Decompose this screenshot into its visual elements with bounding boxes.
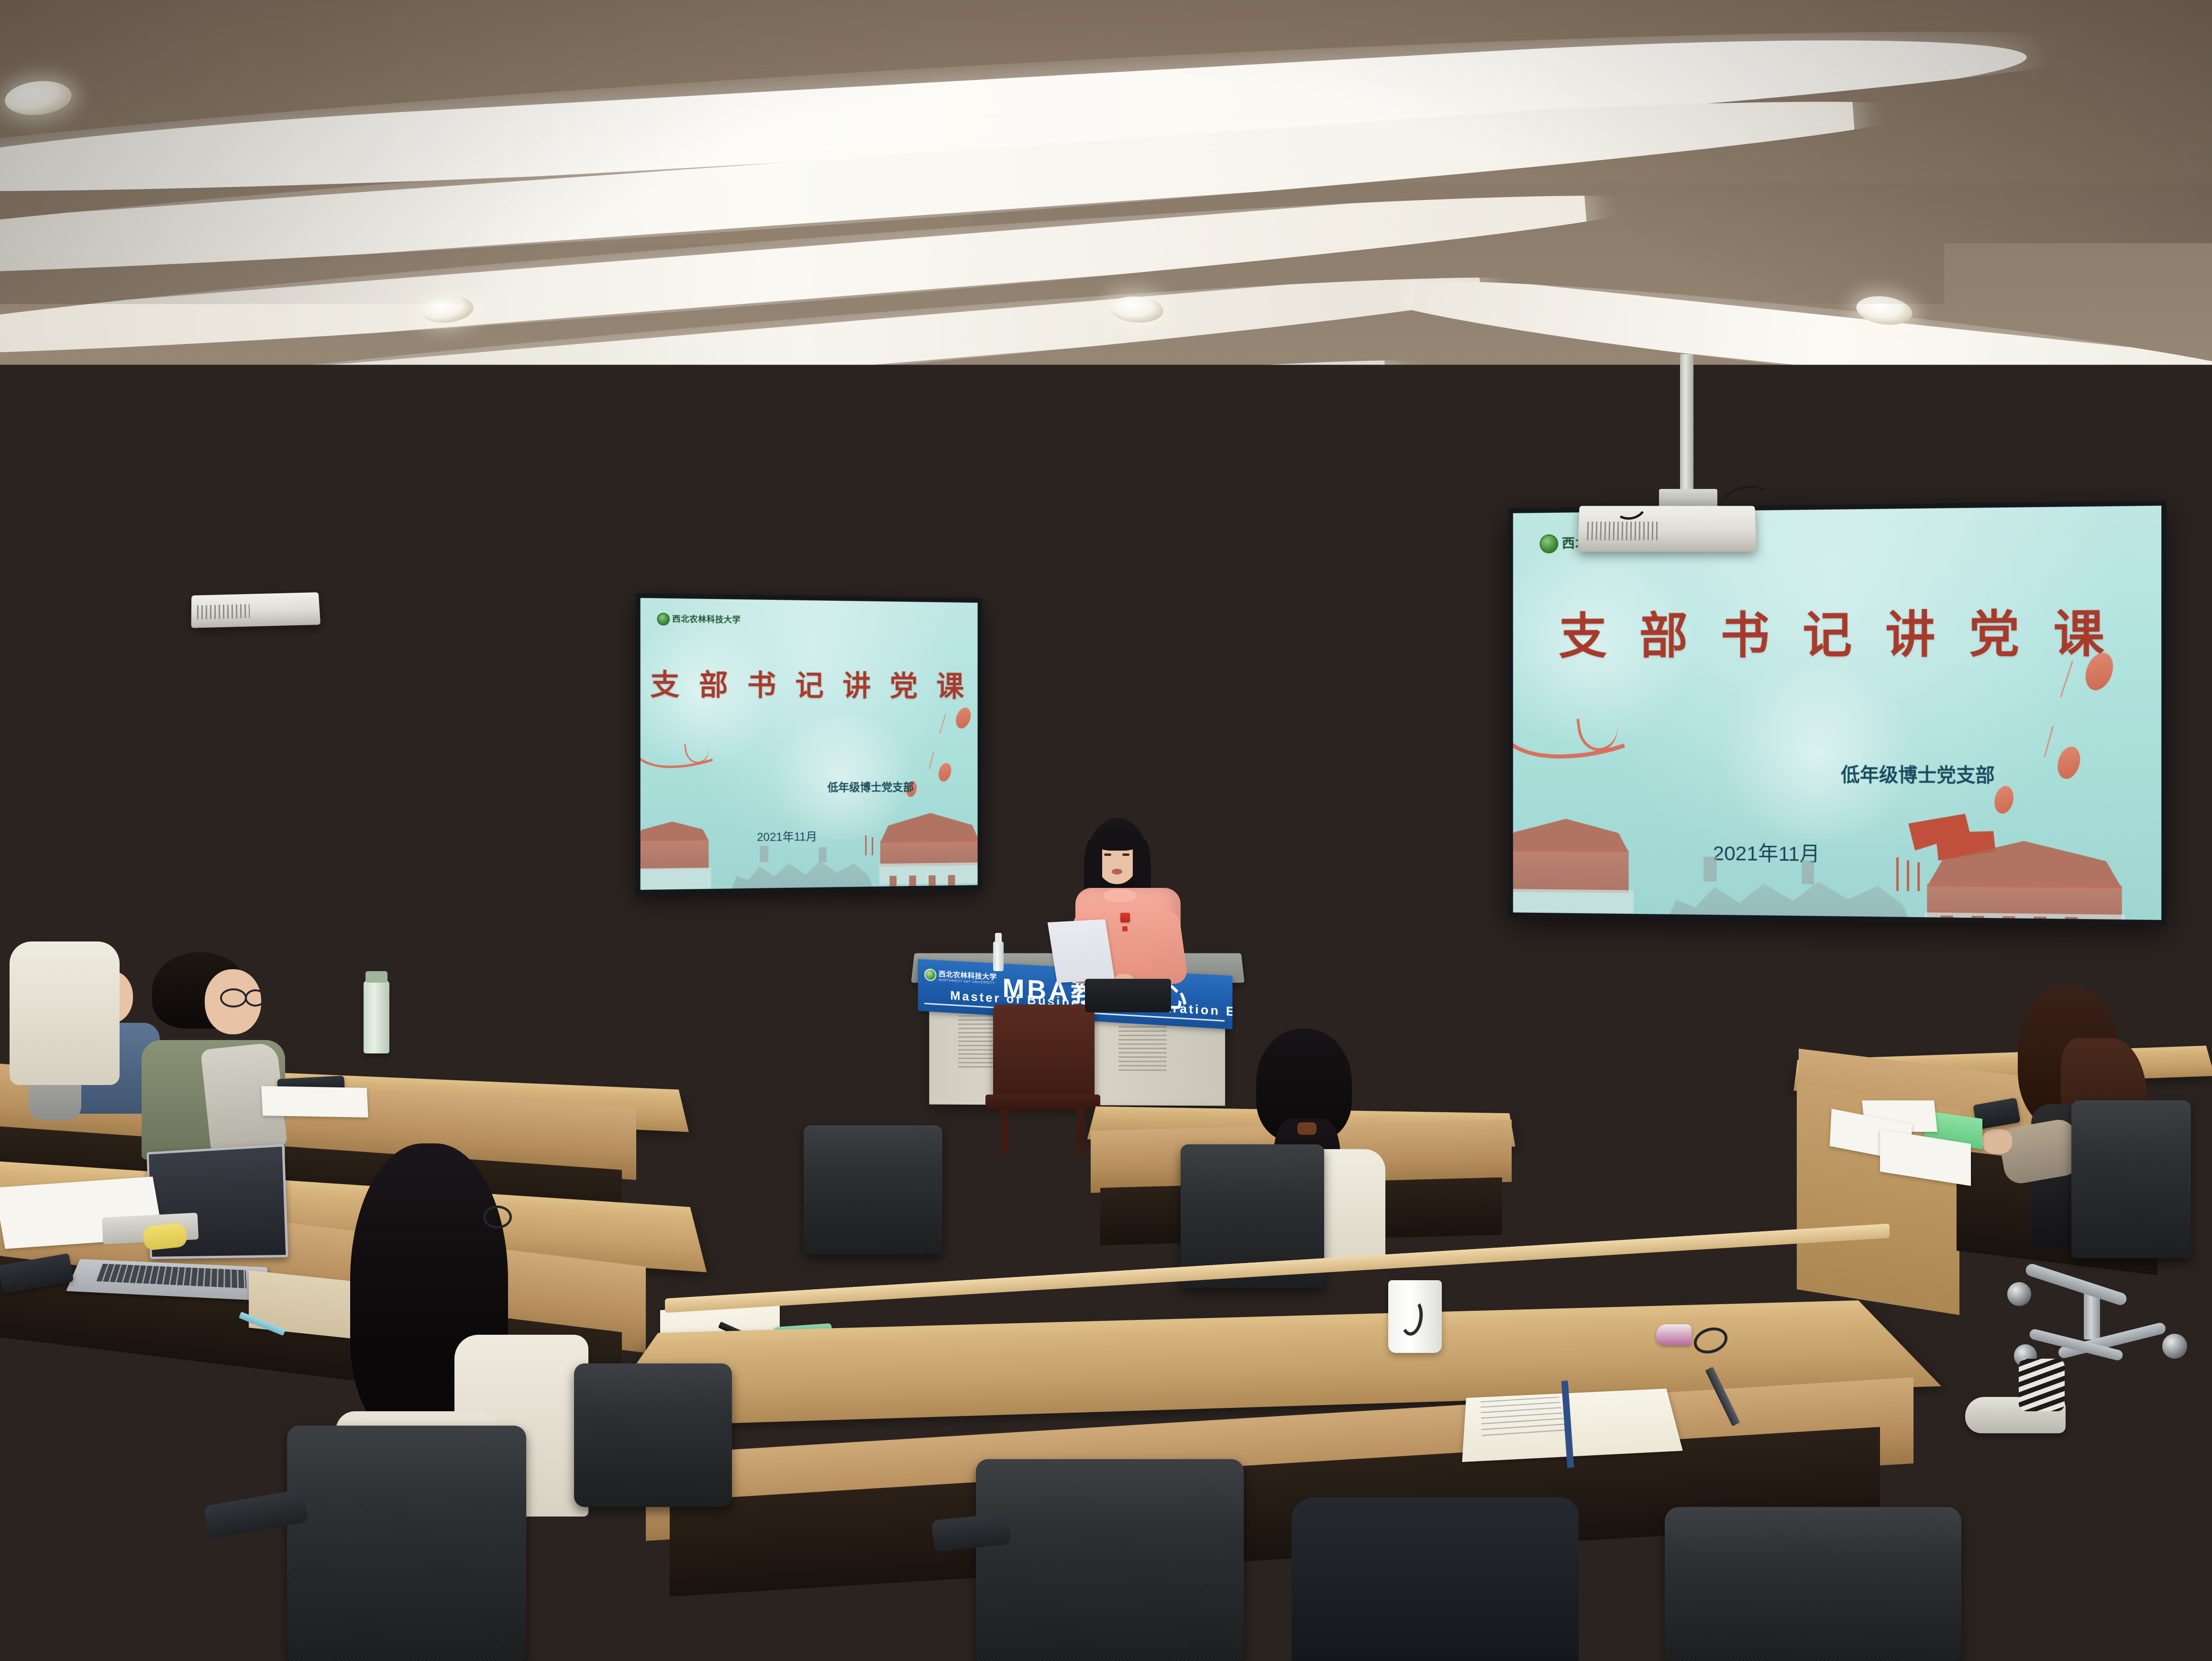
presenter <box>1058 818 1202 1019</box>
wooden-chair-leg <box>1001 1109 1008 1154</box>
tiananmen-column <box>2065 917 2078 920</box>
chair-row-center[interactable] <box>574 1363 732 1507</box>
ceiling-downlight <box>3 78 74 118</box>
slide-title: 支 部 书 记 讲 党 课 <box>641 661 978 705</box>
sanitizer-bottle <box>993 941 1004 971</box>
historic-building-body <box>641 840 709 869</box>
clock-numeral: 6 <box>104 697 108 705</box>
whiteboard-smudge <box>1068 740 1192 793</box>
tiananmen-column <box>2034 917 2046 920</box>
lantern-decoration <box>1992 784 2016 815</box>
great-wall-illustration <box>1666 862 1913 920</box>
great-wall-tower <box>1703 857 1717 882</box>
slide-date: 2021年11月 <box>757 827 817 844</box>
slide-right: 西北农林科技大学 支 部 书 记 讲 党 课 低年级博士党支部 2021年11月 <box>1513 506 2161 920</box>
great-wall-tower <box>1802 860 1814 884</box>
sneaker-keychain-icon <box>1656 1324 1692 1345</box>
laptop-keyboard[interactable] <box>97 1264 247 1288</box>
projector-mount-pole-right <box>1680 354 1693 498</box>
chair-center-row[interactable] <box>804 1125 942 1254</box>
flag-pole <box>865 835 867 855</box>
yellow-pouch <box>143 1222 188 1251</box>
slide-mist <box>762 715 922 840</box>
slide-title: 支 部 书 记 讲 党 课 <box>1513 592 2161 667</box>
clock-numeral: 3 <box>124 676 129 685</box>
chair-foreground[interactable] <box>976 1459 1244 1661</box>
slide-left: 西北农林科技大学 支 部 书 记 讲 党 课 低年级博士党支部 2021年11月 <box>641 598 978 890</box>
water-bottle <box>364 981 389 1053</box>
whiteboard-smudge <box>1254 884 1379 927</box>
projector-vent <box>1587 521 1659 540</box>
eyeglasses <box>483 1206 512 1229</box>
tiananmen-column <box>890 876 897 889</box>
presenter-mouth <box>1112 869 1122 875</box>
student-right-hand <box>1982 1129 2012 1154</box>
historic-building-base <box>1513 889 1633 920</box>
university-seal-icon <box>1540 534 1559 554</box>
bottle-cap <box>365 971 387 983</box>
slide-university-logo: 西北农林科技大学 <box>657 613 741 626</box>
great-wall-tower <box>760 846 768 862</box>
podium-university-logo: 西北农林科技大学 NORTHWEST A&F UNIVERSITY <box>924 968 997 985</box>
wall-outlet[interactable] <box>660 959 681 975</box>
tiananmen-column <box>948 875 955 888</box>
booklet-second-tier <box>261 1086 368 1118</box>
flag-pole <box>872 837 873 855</box>
presenter-eye <box>1122 853 1129 856</box>
seat-cushion <box>10 941 120 1085</box>
chair-foreground[interactable] <box>1665 1507 1961 1661</box>
tiananmen-column <box>1941 916 1953 920</box>
presenter-script-paper <box>1048 919 1115 983</box>
slide-mist <box>1708 667 1927 840</box>
chair-right-student[interactable] <box>2071 1100 2191 1258</box>
podium-vent <box>1118 1023 1167 1071</box>
wooden-chair-leg <box>1077 1109 1085 1154</box>
notebook-handwriting <box>1480 1393 1566 1436</box>
university-seal-icon <box>657 613 670 626</box>
lantern-decoration <box>2054 744 2084 782</box>
projection-screen-right: 西北农林科技大学 支 部 书 记 讲 党 课 低年级博士党支部 2021年11月 <box>1508 501 2166 925</box>
tiananmen-column <box>1971 916 1984 920</box>
clock-numeral: 9 <box>81 676 86 685</box>
chair-foreground[interactable] <box>287 1426 526 1661</box>
flag-pole <box>1917 863 1920 891</box>
tiananmen-column <box>2002 916 2015 920</box>
ceiling-downlight <box>1305 448 1353 474</box>
lantern-decoration <box>953 705 973 731</box>
great-wall-tower <box>819 847 827 863</box>
lantern-string <box>2044 726 2054 757</box>
clock-center-pin <box>104 678 108 682</box>
chair-caster <box>2007 1282 2031 1306</box>
projector-mount-pole-left <box>237 507 248 584</box>
lecture-hall-photo: 12 3 6 9 西北农林科技大学 支 部 书 记 讲 党 课 <box>0 0 2212 1661</box>
clock-numeral: 12 <box>102 654 111 663</box>
ceiling-downlight <box>636 487 681 510</box>
ceiling <box>0 0 2212 565</box>
lantern-string <box>2060 661 2073 698</box>
sanitizer-nozzle <box>995 933 1002 943</box>
striped-sock <box>2019 1359 2065 1411</box>
clock-hour-hand <box>91 679 106 691</box>
slide-subtitle: 低年级博士党支部 <box>828 778 914 795</box>
ceiling-downlight <box>114 399 164 427</box>
chair-caster <box>2162 1334 2187 1359</box>
tiananmen-column <box>929 875 936 889</box>
wooden-chair-seat <box>985 1095 1100 1111</box>
presenter-eye <box>1104 853 1111 856</box>
eyeglasses <box>220 988 247 1008</box>
historic-building-roof <box>641 821 709 842</box>
party-badge-icon <box>1122 926 1128 931</box>
projector-left <box>191 592 321 628</box>
projection-screen-left: 西北农林科技大学 支 部 书 记 讲 党 课 低年级博士党支部 2021年11月 <box>635 593 982 895</box>
historic-building-body <box>1513 850 1629 893</box>
ceiling-downlight <box>928 520 970 542</box>
lantern-decoration <box>937 762 953 783</box>
presenter-collar <box>1103 889 1137 902</box>
lantern-string <box>929 752 934 769</box>
historic-building-base <box>641 868 711 890</box>
whiteboard-smudge <box>1187 778 1340 845</box>
party-badge-icon <box>1120 913 1130 922</box>
flag-pole <box>1896 857 1899 891</box>
lantern-string <box>939 714 946 734</box>
slide-subtitle: 低年级博士党支部 <box>1841 759 1995 787</box>
ceiling-light-band <box>1186 371 1785 464</box>
chair-foreground[interactable] <box>0 1531 182 1661</box>
historic-building-roof <box>1513 819 1629 853</box>
eyeglasses <box>245 989 266 1007</box>
recording-camera <box>479 790 507 820</box>
draped-jacket <box>1292 1497 1579 1661</box>
great-wall-illustration <box>731 849 874 890</box>
slide-org-name-cn: 西北农林科技大学 <box>672 615 741 625</box>
flag-pole <box>1907 860 1909 891</box>
wall-clock: 12 3 6 9 <box>74 648 136 710</box>
ceiling-light-band <box>1411 272 2212 412</box>
tiananmen-column <box>909 875 916 889</box>
student-center-hairtie <box>1297 1122 1316 1135</box>
speaker-unit <box>292 899 338 957</box>
presenter-trousers <box>1085 979 1171 1012</box>
projector-vent <box>197 604 250 620</box>
university-seal-icon <box>924 968 936 981</box>
